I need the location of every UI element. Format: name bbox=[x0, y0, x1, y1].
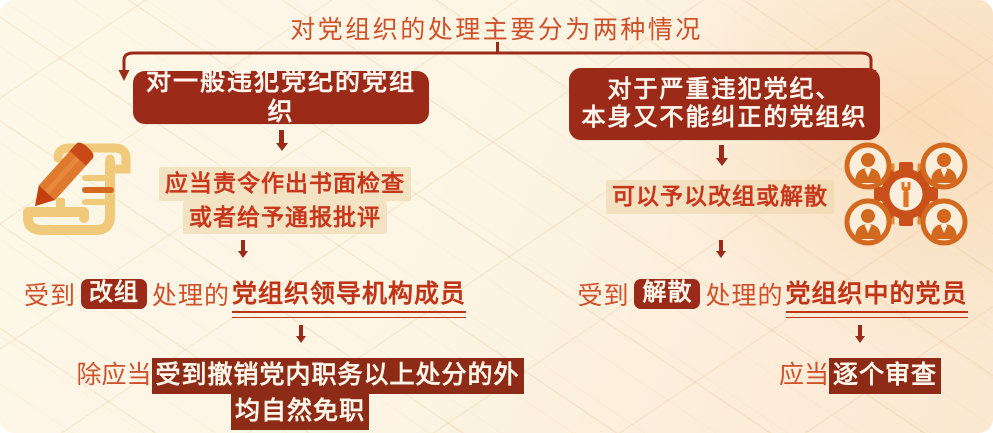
right-mid-row: 受到 解散 处理的 党组织中的党员 bbox=[560, 274, 985, 313]
right-bottom-statement: 应当逐个审查 bbox=[735, 358, 985, 394]
left-mid-row: 受到 改组 处理的 党组织领导机构成员 bbox=[10, 274, 480, 313]
left-mid-middle: 处理的 bbox=[152, 276, 230, 312]
page-title: 对党组织的处理主要分为两种情况 bbox=[0, 10, 993, 46]
infographic-poster: 对党组织的处理主要分为两种情况 对一般违犯党纪的党组织 对于严重违犯党纪、 本身… bbox=[0, 0, 993, 433]
right-bottom-highlight-line1: 逐个审查 bbox=[829, 358, 941, 394]
right-branch-box-text: 对于严重违犯党纪、 本身又不能纠正的党组织 bbox=[582, 76, 868, 133]
team-gear-icon bbox=[840, 138, 972, 250]
arrow-left-box-to-statement bbox=[276, 130, 286, 151]
arrow-right-box-to-statement bbox=[716, 145, 726, 166]
left-mid-emphasis: 党组织领导机构成员 bbox=[232, 274, 466, 313]
left-statement-line1: 应当责令作出书面检查 bbox=[159, 167, 411, 201]
right-statement: 可以予以改组或解散 bbox=[575, 180, 865, 214]
arrow-left-mid-to-bottom bbox=[296, 325, 306, 343]
left-bottom-highlight-line2: 均自然免职 bbox=[231, 394, 369, 430]
right-mid-emphasis: 党组织中的党员 bbox=[786, 274, 968, 313]
left-branch-box: 对一般违犯党纪的党组织 bbox=[133, 71, 429, 124]
right-branch-box-label-line2: 本身又不能纠正的党组织 bbox=[582, 104, 868, 132]
left-bottom-statement: 除应当受到撤销党内职务以上处分的外 均自然免职 bbox=[60, 358, 540, 430]
left-bottom-prefix: 除应当 bbox=[76, 362, 151, 389]
left-statement: 应当责令作出书面检查 或者给予通报批评 bbox=[120, 167, 450, 234]
right-statement-line1: 可以予以改组或解散 bbox=[606, 180, 834, 214]
right-bottom-prefix: 应当 bbox=[779, 362, 829, 389]
arrow-right-mid-to-bottom bbox=[855, 325, 865, 343]
left-branch-box-label: 对一般违犯党纪的党组织 bbox=[133, 68, 429, 127]
left-statement-line2: 或者给予通报批评 bbox=[183, 201, 387, 235]
right-mid-middle: 处理的 bbox=[705, 276, 783, 312]
right-branch-box-label-line1: 对于严重违犯党纪、 bbox=[608, 77, 842, 103]
arrow-right-statement-to-mid bbox=[716, 240, 726, 258]
left-bottom-highlight-line1: 受到撤销党内职务以上处分的外 bbox=[152, 358, 524, 394]
arrow-left-statement-to-mid bbox=[238, 240, 248, 258]
right-mid-prefix: 受到 bbox=[577, 276, 629, 312]
right-branch-box: 对于严重违犯党纪、 本身又不能纠正的党组织 bbox=[569, 68, 880, 140]
left-mid-badge: 改组 bbox=[81, 279, 147, 309]
scroll-pencil-icon bbox=[14, 142, 132, 242]
left-mid-prefix: 受到 bbox=[24, 276, 76, 312]
right-mid-badge: 解散 bbox=[634, 279, 700, 309]
